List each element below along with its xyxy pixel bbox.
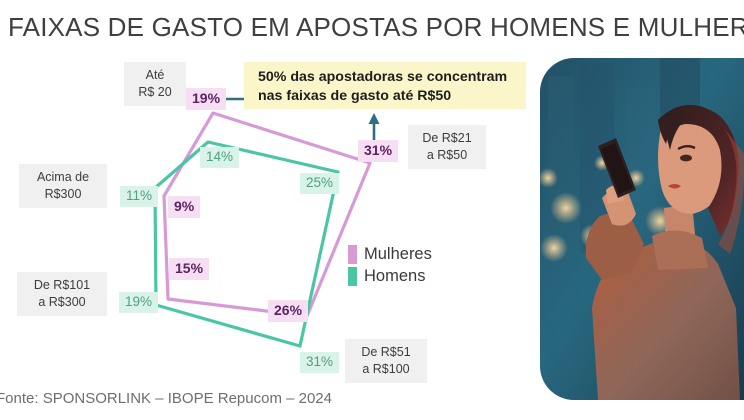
category-label-ate-20: Até R$ 20 [124,62,186,106]
badge-mulheres-acima-300: 9% [168,196,200,218]
badge-mulheres-21-50: 31% [358,140,398,162]
category-line-1: De R$101 [34,277,90,294]
category-label-acima-300: Acima de R$300 [19,164,107,208]
legend-item-homens: Homens [348,267,432,286]
callout-box: 50% das apostadoras se concentram nas fa… [244,62,526,109]
badge-homens-51-100: 31% [300,352,339,373]
category-line-2: R$ 20 [138,84,171,101]
category-line-1: Até [146,67,165,84]
badge-homens-acima-300: 11% [120,186,158,207]
category-label-51-100: De R$51 a R$100 [345,339,427,383]
category-line-1: Acima de [37,169,89,186]
category-label-21-50: De R$21 a R$50 [408,125,486,169]
legend-item-mulheres: Mulheres [348,245,432,264]
badge-mulheres-101-300: 15% [169,258,209,280]
category-label-101-300: De R$101 a R$300 [17,272,107,316]
badge-mulheres-ate-20: 19% [186,88,226,110]
category-line-1: De R$51 [361,344,410,361]
slide-canvas: FAIXAS DE GASTO EM APOSTAS POR HOMENS E … [0,0,744,420]
badge-homens-ate-20: 14% [200,147,239,168]
chart-legend: Mulheres Homens [348,245,432,289]
badge-homens-101-300: 19% [119,292,158,313]
legend-swatch-mulheres-icon [348,245,357,264]
category-line-2: a R$50 [427,147,467,164]
callout-line-1: 50% das apostadoras se concentram [258,68,516,87]
category-line-2: a R$300 [38,294,85,311]
legend-label-homens: Homens [364,267,425,286]
category-line-2: a R$100 [362,361,409,378]
category-line-1: De R$21 [422,130,471,147]
badge-homens-21-50: 25% [300,173,339,194]
legend-label-mulheres: Mulheres [364,245,432,264]
callout-line-2: nas faixas de gasto até R$50 [258,87,516,106]
source-note: Fonte: SPONSORLINK – IBOPE Repucom – 202… [0,390,332,407]
photo-woman-with-phone [540,58,744,400]
badge-mulheres-51-100: 26% [268,300,308,322]
category-line-2: R$300 [45,186,82,203]
legend-swatch-homens-icon [348,267,357,286]
